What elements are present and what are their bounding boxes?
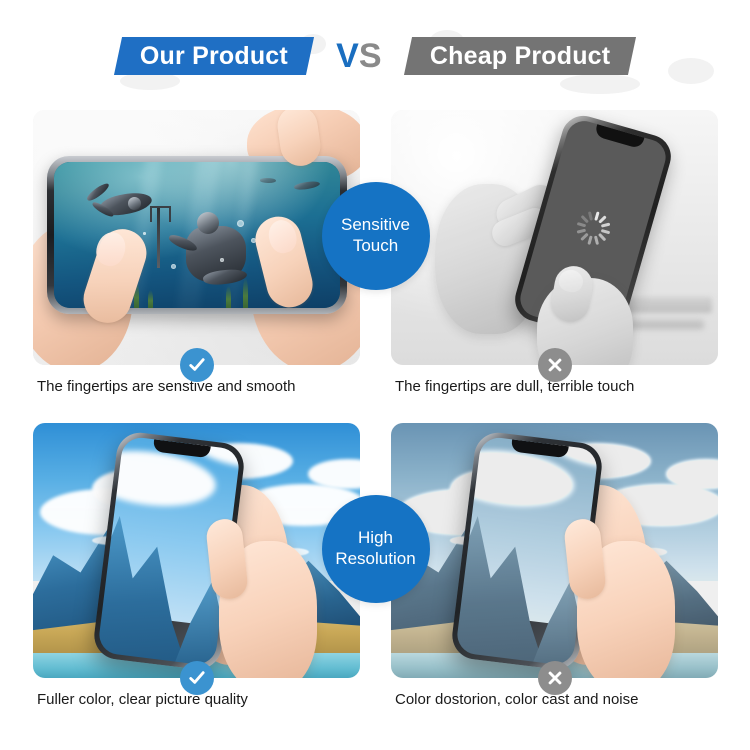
feature-label-line-2: Touch: [353, 236, 398, 257]
check-icon: [187, 668, 207, 688]
scene-good-touch: [33, 110, 360, 365]
loading-spinner-icon: [572, 207, 614, 249]
comparison-header: Our Product V S Cheap Product: [0, 26, 750, 86]
our-product-badge: Our Product: [114, 37, 314, 75]
feature-badge-high-resolution: High Resolution: [322, 495, 430, 603]
panel-cheap-product-resolution: [391, 423, 718, 678]
scene-good-resolution: [33, 423, 360, 678]
comparison-infographic: Our Product V S Cheap Product: [0, 0, 750, 750]
comparison-row-sensitive-touch: Sensitive Touch The fingertips are senst…: [33, 110, 718, 417]
verdict-cross-badge: [538, 348, 572, 382]
feature-label-line-1: High: [358, 528, 393, 549]
cheap-product-label: Cheap Product: [430, 42, 610, 71]
seaweed: [243, 278, 248, 308]
feature-label-line-2: Resolution: [335, 549, 415, 570]
panel-cheap-product-touch: [391, 110, 718, 365]
verdict-check-badge: [180, 661, 214, 695]
scene-bad-touch: [391, 110, 718, 365]
check-icon: [187, 355, 207, 375]
bubble: [143, 232, 146, 235]
cross-icon: [546, 669, 564, 687]
comparison-row-high-resolution: High Resolution Fuller color, clear pict…: [33, 423, 718, 730]
vs-letter-v: V: [336, 39, 359, 73]
seaweed: [226, 286, 231, 308]
our-product-label: Our Product: [140, 42, 288, 71]
cross-icon: [546, 356, 564, 374]
verdict-cross-badge: [538, 661, 572, 695]
scene-bad-resolution: [391, 423, 718, 678]
panel-our-product-touch: [33, 110, 360, 365]
verdict-check-badge: [180, 348, 214, 382]
feature-badge-sensitive-touch: Sensitive Touch: [322, 182, 430, 290]
trident-weapon: [157, 206, 160, 268]
comparison-grid: Sensitive Touch The fingertips are senst…: [33, 110, 718, 730]
vs-letter-s: S: [359, 39, 382, 73]
feature-label-line-1: Sensitive: [341, 215, 410, 236]
cheap-product-badge: Cheap Product: [403, 37, 635, 75]
panel-our-product-resolution: [33, 423, 360, 678]
vs-separator: V S: [336, 39, 381, 73]
game-character-main-helmet: [197, 212, 219, 234]
game-character-far-swimmer: [260, 178, 276, 183]
